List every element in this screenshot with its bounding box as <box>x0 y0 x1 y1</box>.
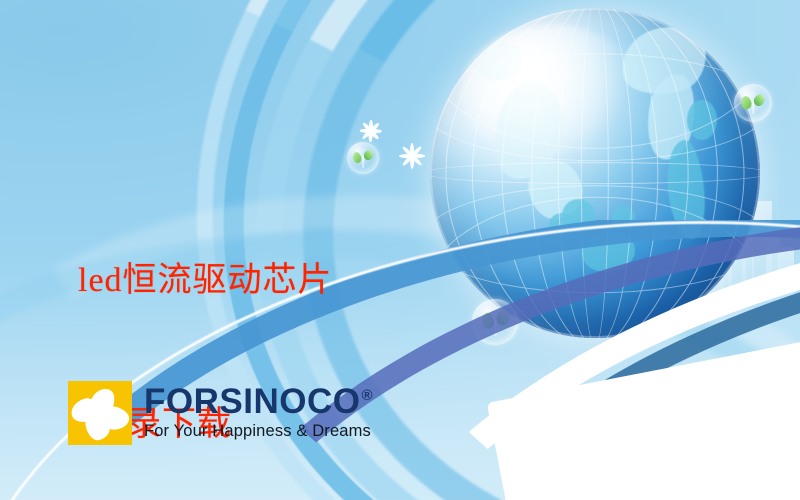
brand-name: FORSINOCO <box>144 385 360 419</box>
brand-name-row: FORSINOCO® <box>144 385 373 419</box>
sparkle-upper <box>360 120 382 142</box>
brand-logo: FORSINOCO® For Your Happiness & Dreams <box>68 381 373 445</box>
brand-tagline: For Your Happiness & Dreams <box>144 422 373 441</box>
headline: led恒流驱动芯片 目录下载 <box>78 160 498 500</box>
sprout-icon <box>741 92 765 116</box>
sprout-leaf-right <box>752 92 766 107</box>
banner-image: led恒流驱动芯片 目录下载 FORSINOCO® For Your Happi… <box>0 0 800 500</box>
registered-mark: ® <box>361 388 373 403</box>
pinwheel-icon <box>68 381 132 445</box>
headline-line-1: led恒流驱动芯片 <box>78 257 498 305</box>
brand-text: FORSINOCO® For Your Happiness & Dreams <box>144 385 373 440</box>
bubble-sprout-right <box>734 84 772 122</box>
